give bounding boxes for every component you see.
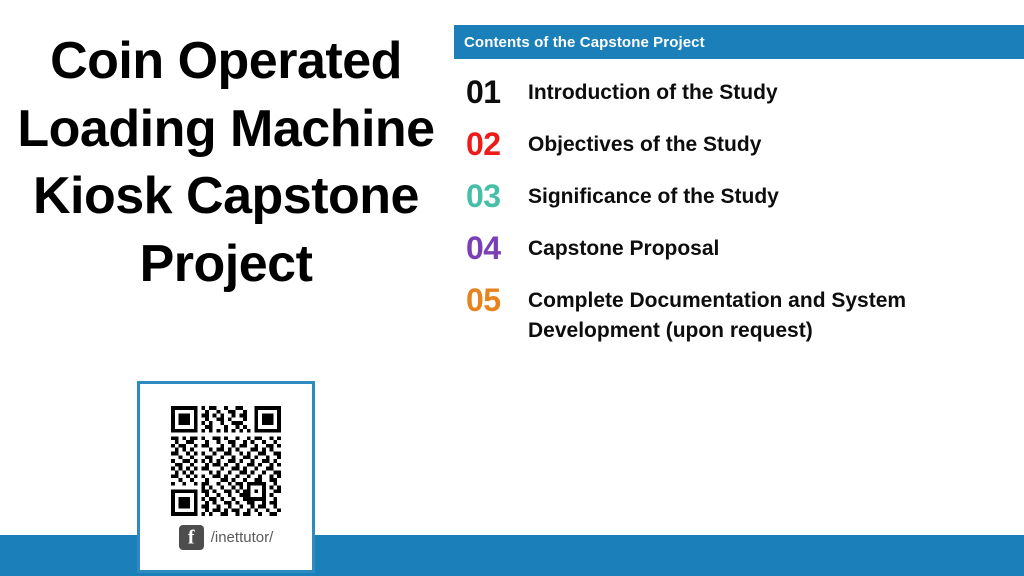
list-item-label: Capstone Proposal <box>528 232 1022 264</box>
list-item-number: 04 <box>466 232 528 264</box>
facebook-handle-text: /inettutor/ <box>211 529 274 546</box>
right-panel: Contents of the Capstone Project 01 Intr… <box>452 0 1024 576</box>
qr-code-image <box>171 406 281 516</box>
facebook-icon: f <box>179 525 204 550</box>
qr-card: f /inettutor/ <box>137 381 315 573</box>
presentation-slide: Coin Operated Loading Machine Kiosk Caps… <box>0 0 1024 576</box>
list-item[interactable]: 02 Objectives of the Study <box>466 128 1022 160</box>
facebook-icon-letter: f <box>179 527 204 547</box>
list-item-number: 01 <box>466 76 528 108</box>
list-item-label: Introduction of the Study <box>528 76 1022 108</box>
footer-url-link[interactable]: https://web.facebook.com/inettutor/ <box>360 0 613 41</box>
contents-list: 01 Introduction of the Study 02 Objectiv… <box>466 76 1022 366</box>
list-item[interactable]: 04 Capstone Proposal <box>466 232 1022 264</box>
list-item-label: Complete Documentation and System Develo… <box>528 284 1022 346</box>
list-item-label: Objectives of the Study <box>528 128 1022 160</box>
list-item[interactable]: 01 Introduction of the Study <box>466 76 1022 108</box>
list-item-label: Significance of the Study <box>528 180 1022 212</box>
list-item-number: 03 <box>466 180 528 212</box>
list-item-number: 05 <box>466 284 528 316</box>
facebook-handle-row: f /inettutor/ <box>140 525 312 550</box>
list-item-number: 02 <box>466 128 528 160</box>
list-item[interactable]: 05 Complete Documentation and System Dev… <box>466 284 1022 346</box>
list-item[interactable]: 03 Significance of the Study <box>466 180 1022 212</box>
left-panel: Coin Operated Loading Machine Kiosk Caps… <box>0 0 452 576</box>
page-title: Coin Operated Loading Machine Kiosk Caps… <box>8 28 444 298</box>
